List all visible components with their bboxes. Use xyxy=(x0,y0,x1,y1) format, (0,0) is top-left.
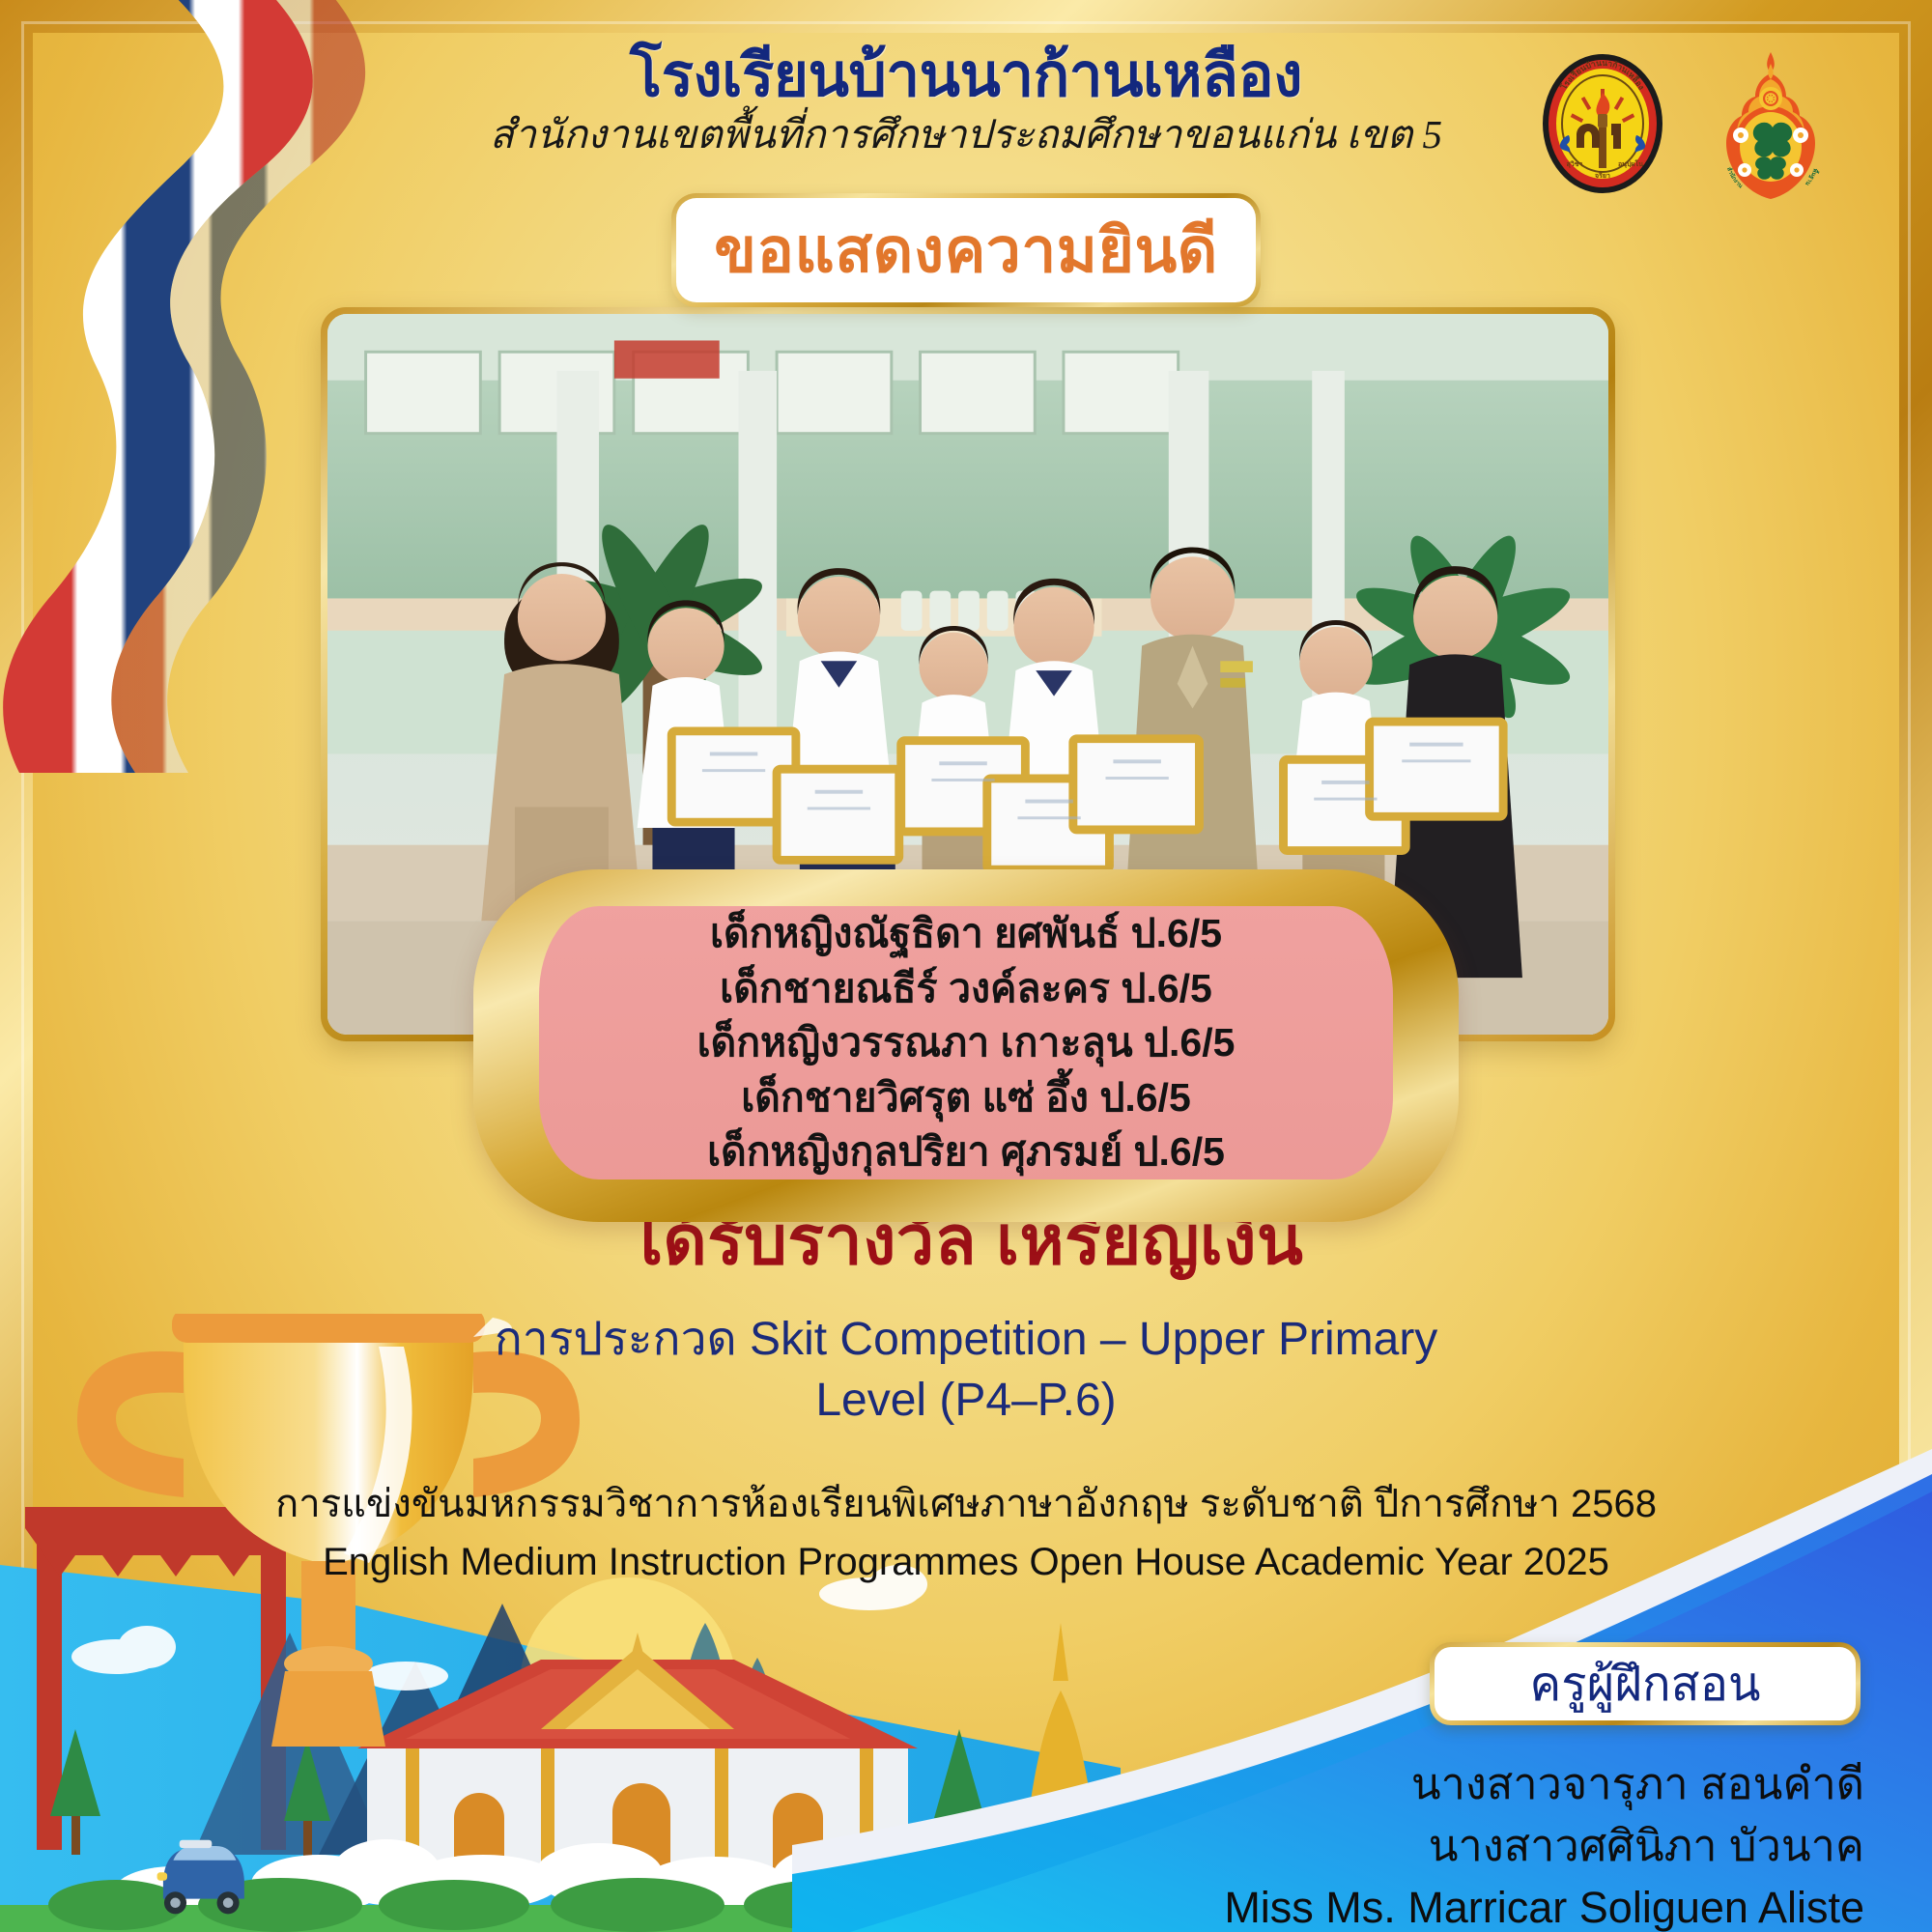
awardee-names-capsule: เด็กหญิงณัฐธิดา ยศพันธ์ ป.6/5 เด็กชายณธี… xyxy=(473,869,1459,1222)
coach-teacher-names: นางสาวจารุภา สอนคำดี นางสาวศศินิภา บัวนา… xyxy=(1224,1753,1864,1932)
list-item: นางสาวจารุภา สอนคำดี xyxy=(1224,1753,1864,1815)
congratulations-poster: โรงเรียนบ้านนาก้านเหลือง สำนักงานเขตพื้น… xyxy=(0,0,1932,1932)
list-item: เด็กหญิงกุลปริยา ศุภรมย์ ป.6/5 xyxy=(539,1124,1393,1179)
event-name-thai: การแข่งขันมหกรรมวิชาการห้องเรียนพิเศษภาษ… xyxy=(0,1475,1932,1533)
congratulations-banner: ขอแสดงความยินดี xyxy=(671,193,1261,307)
school-emblem-icon: สุวิชาอนุปฺผโน จริยา โรงเรียนบ้านนาก้านเ… xyxy=(1530,46,1675,201)
awardee-names-wrap: เด็กหญิงณัฐธิดา ยศพันธ์ ป.6/5 เด็กชายณธี… xyxy=(473,869,1459,1222)
svg-text:อนุปฺผโน: อนุปฺผโน xyxy=(1618,159,1643,168)
list-item: เด็กชายณธีร์ วงค์ละคร ป.6/5 xyxy=(539,961,1393,1016)
obec-emblem-icon: สำนักงาน พื้นฐาน xyxy=(1698,46,1843,201)
list-item: เด็กหญิงวรรณภา เกาะลุน ป.6/5 xyxy=(539,1015,1393,1070)
list-item: เด็กชายวิศรุต แซ่ อึ้ง ป.6/5 xyxy=(539,1070,1393,1125)
coach-teacher-pill: ครูผู้ฝึกสอน xyxy=(1430,1642,1861,1725)
logo-group: สุวิชาอนุปฺผโน จริยา โรงเรียนบ้านนาก้านเ… xyxy=(1530,46,1843,201)
competition-title: การประกวด Skit Competition – Upper Prima… xyxy=(0,1309,1932,1432)
competition-line-1: การประกวด Skit Competition – Upper Prima… xyxy=(0,1309,1932,1370)
coach-teacher-label: ครูผู้ฝึกสอน xyxy=(1529,1646,1760,1721)
list-item: เด็กหญิงณัฐธิดา ยศพันธ์ ป.6/5 xyxy=(539,906,1393,961)
coach-teacher-pill-wrap: ครูผู้ฝึกสอน xyxy=(1430,1642,1861,1725)
svg-text:จริยา: จริยา xyxy=(1595,172,1610,180)
congratulations-banner-wrap: ขอแสดงความยินดี xyxy=(671,193,1261,307)
congratulations-label: ขอแสดงความยินดี xyxy=(714,201,1218,299)
competition-line-2: Level (P4–P.6) xyxy=(0,1370,1932,1431)
thai-flag-ribbon-decoration xyxy=(0,0,406,792)
svg-text:สุวิชา: สุวิชา xyxy=(1567,160,1583,168)
event-name-english: English Medium Instruction Programmes Op… xyxy=(0,1533,1932,1591)
list-item: Miss Ms. Marricar Soliguen Aliste xyxy=(1224,1877,1864,1932)
event-info: การแข่งขันมหกรรมวิชาการห้องเรียนพิเศษภาษ… xyxy=(0,1475,1932,1591)
list-item: นางสาวศศินิภา บัวนาค xyxy=(1224,1815,1864,1877)
